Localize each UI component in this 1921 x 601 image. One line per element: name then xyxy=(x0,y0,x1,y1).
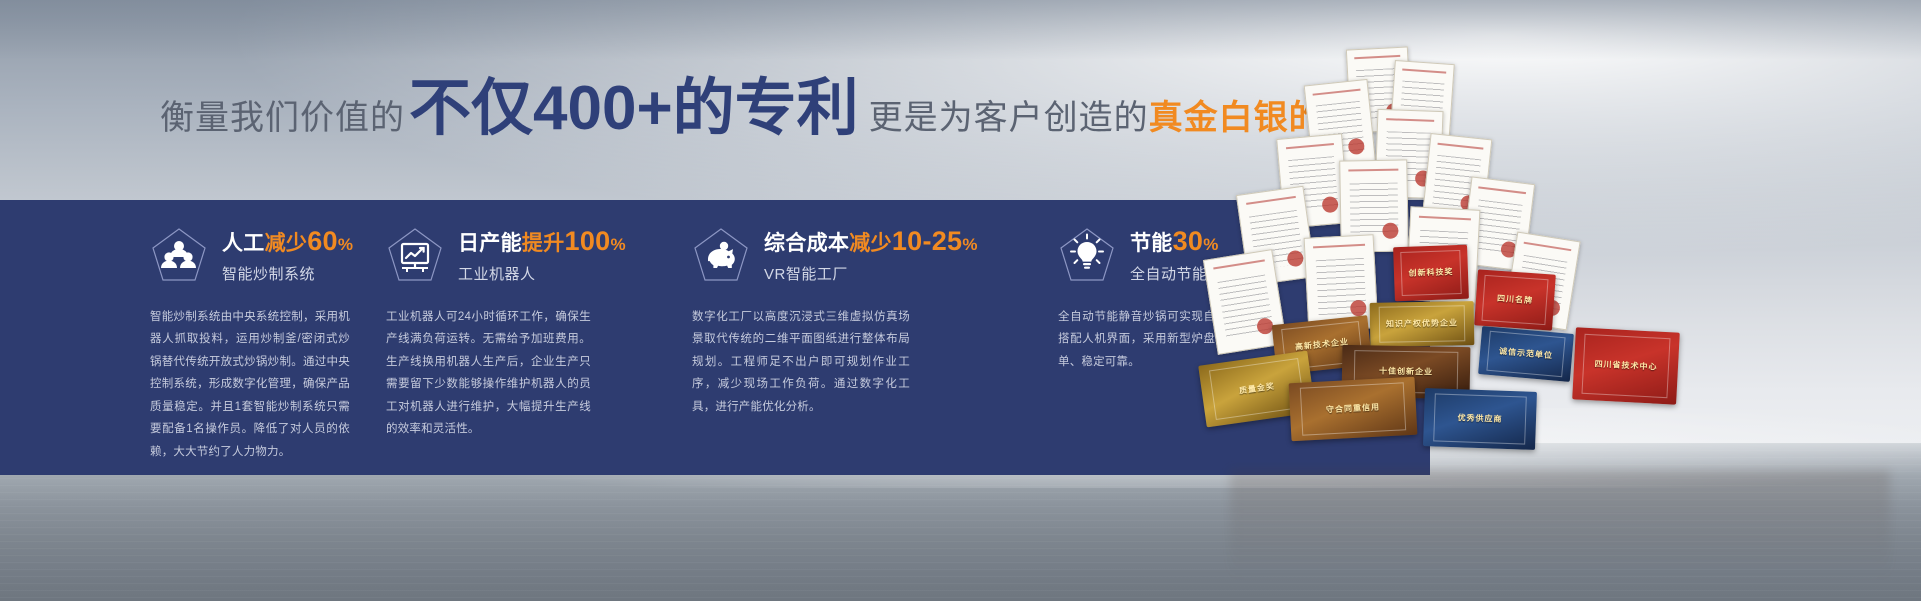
feature-header-1: 人工减少60% 智能炒制系统 xyxy=(150,226,330,284)
plaque-label: 四川名牌 xyxy=(1495,292,1536,309)
seal-icon xyxy=(1321,195,1338,212)
banner-stage: 衡量我们价值的 不仅400+的专利 更是为客户创造的 真金白银的效益 xyxy=(0,0,1921,601)
feature-column-1: 人工减少60% 智能炒制系统 智能炒制系统由中央系统控制，采用机器人抓取投料，运… xyxy=(0,226,330,475)
headline-lead: 衡量我们价值的 xyxy=(160,90,405,139)
plaque-label: 创新科技奖 xyxy=(1406,265,1455,281)
feature-stat-2: 日产能提升100% xyxy=(458,226,626,257)
award-plaque: 优秀供应商 xyxy=(1423,388,1537,450)
feature-column-2: 日产能提升100% 工业机器人 工业机器人可24小时循环工作，确保生产线满负荷运… xyxy=(330,226,640,475)
feature-column-3: 综合成本减少10-25% VR智能工厂 数字化工厂以高度沉浸式三维虚拟仿真场景取… xyxy=(640,226,1000,475)
headline-emphasis: 不仅400+的专利 xyxy=(409,78,859,140)
people-group-icon xyxy=(150,226,208,284)
plaque-inner: 四川名牌 xyxy=(1481,275,1548,325)
award-plaque: 守合同重信用 xyxy=(1289,377,1418,442)
award-plaque: 诚信示范单位 xyxy=(1478,326,1574,382)
plaque-inner: 优秀供应商 xyxy=(1433,394,1526,445)
feature-body-2: 工业机器人可24小时循环工作，确保生产线满负荷运转。无需给予加班费用。生产线换用… xyxy=(386,306,591,441)
plaque-label: 知识产权优势企业 xyxy=(1384,316,1460,331)
feature-stat-3: 综合成本减少10-25% xyxy=(764,226,978,257)
seal-icon xyxy=(1286,250,1304,268)
plaque-label: 优秀供应商 xyxy=(1455,411,1504,427)
award-plaque: 四川名牌 xyxy=(1474,269,1556,330)
award-plaque: 知识产权优势企业 xyxy=(1370,301,1475,347)
award-plaque: 创新科技奖 xyxy=(1393,245,1469,302)
plaque-inner: 四川省技术中心 xyxy=(1582,334,1670,397)
plaque-label: 守合同重信用 xyxy=(1324,400,1383,417)
plaque-inner: 诚信示范单位 xyxy=(1487,331,1566,377)
feature-headtext-2: 日产能提升100% 工业机器人 xyxy=(458,226,626,283)
seal-icon xyxy=(1382,223,1398,239)
piggy-bank-icon xyxy=(692,226,750,284)
feature-subtitle-2: 工业机器人 xyxy=(458,263,626,284)
feature-body-1: 智能炒制系统由中央系统控制，采用机器人抓取投料，运用炒制釜/密闭式炒锅替代传统开… xyxy=(150,306,350,463)
plaque-inner: 创新科技奖 xyxy=(1400,250,1462,296)
seal-icon xyxy=(1348,138,1366,156)
plaque-label: 质量金奖 xyxy=(1236,379,1278,398)
headline-mid: 更是为客户创造的 xyxy=(869,90,1149,139)
feature-subtitle-3: VR智能工厂 xyxy=(764,263,978,284)
plaque-label: 四川省技术中心 xyxy=(1592,357,1660,374)
plaque-label: 诚信示范单位 xyxy=(1497,344,1556,363)
chart-board-icon xyxy=(386,226,444,284)
plaque-inner: 守合同重信用 xyxy=(1300,383,1406,436)
feature-header-3: 综合成本减少10-25% VR智能工厂 xyxy=(692,226,1000,284)
award-plaque: 四川省技术中心 xyxy=(1572,327,1680,404)
certificate-stack: 创新科技奖 四川名牌 知识产权优势企业 高新技术企业 诚信示范单位 十佳创新企业… xyxy=(1180,40,1921,540)
feature-body-3: 数字化工厂以高度沉浸式三维虚拟仿真场景取代传统的二维平面图纸进行整体布局规划。工… xyxy=(692,306,910,418)
seal-icon xyxy=(1350,300,1367,317)
lightbulb-icon xyxy=(1058,226,1116,284)
feature-headtext-3: 综合成本减少10-25% VR智能工厂 xyxy=(764,226,978,283)
feature-header-2: 日产能提升100% 工业机器人 xyxy=(386,226,640,284)
plaque-inner: 知识产权优势企业 xyxy=(1379,305,1465,343)
